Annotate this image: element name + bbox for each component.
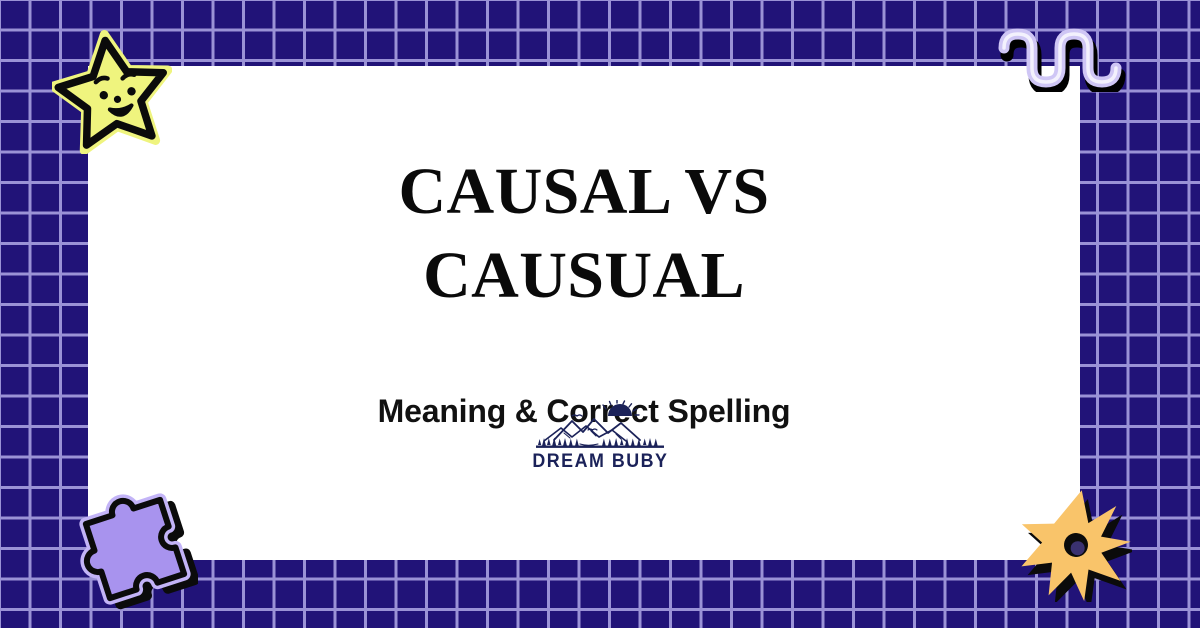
brand-name: DREAM BUBY bbox=[532, 451, 668, 473]
brand-logo: DREAM BUBY bbox=[525, 400, 675, 473]
card-text-block: CAUSAL VS CAUSUAL Meaning & Correct Spel… bbox=[88, 66, 1080, 560]
mountain-sun-landscape-icon bbox=[536, 400, 664, 450]
thumbnail-canvas: CAUSAL VS CAUSUAL Meaning & Correct Spel… bbox=[0, 0, 1200, 628]
page-title: CAUSAL VS CAUSUAL bbox=[354, 150, 814, 319]
